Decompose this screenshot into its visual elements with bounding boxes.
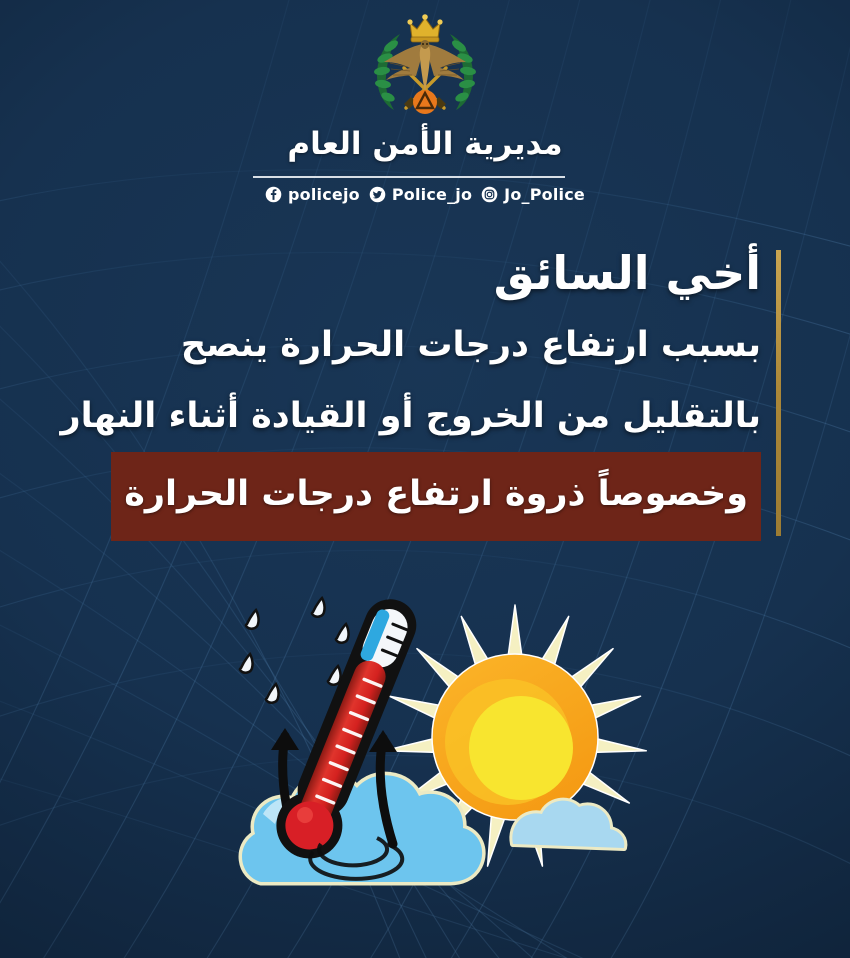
poster-header: مديرية الأمن العام policejo Police_jo <box>0 0 850 222</box>
sun-core <box>469 696 573 800</box>
social-link-instagram[interactable]: Jo_Police <box>481 185 585 204</box>
organization-name: مديرية الأمن العام <box>0 126 850 162</box>
instagram-icon <box>481 186 498 203</box>
message-line-2: بسبب ارتفاع درجات الحرارة ينصح <box>20 310 765 380</box>
twitter-handle: Police_jo <box>392 185 472 204</box>
twitter-icon <box>369 186 386 203</box>
hot-weather-illustration <box>225 552 685 907</box>
message-line-3: بالتقليل من الخروج أو القيادة أثناء النه… <box>20 380 765 452</box>
gold-royal-crown <box>407 14 442 42</box>
sweat-drops-icon <box>240 598 349 703</box>
facebook-icon <box>265 186 282 203</box>
message-line-4-highlighted: وخصوصاً ذروة ارتفاع درجات الحرارة <box>111 452 761 541</box>
facebook-handle: policejo <box>288 185 360 204</box>
header-divider <box>253 176 565 178</box>
message-line-4-wrap: وخصوصاً ذروة ارتفاع درجات الحرارة <box>20 452 765 541</box>
weather-graphic <box>225 552 685 907</box>
orange-triangle-badge <box>413 90 437 114</box>
social-links-row: policejo Police_jo Jo_Police <box>0 185 850 204</box>
social-link-facebook[interactable]: policejo <box>265 185 360 204</box>
message-block: أخي السائق بسبب ارتفاع درجات الحرارة ينص… <box>20 236 765 541</box>
eagle-icon <box>384 40 466 92</box>
jordan-public-security-emblem <box>360 12 490 117</box>
instagram-handle: Jo_Police <box>504 185 585 204</box>
gold-accent-bar <box>776 250 781 536</box>
message-line-1: أخي السائق <box>20 236 765 310</box>
poster-root: مديرية الأمن العام policejo Police_jo <box>0 0 850 958</box>
social-link-twitter[interactable]: Police_jo <box>369 185 472 204</box>
